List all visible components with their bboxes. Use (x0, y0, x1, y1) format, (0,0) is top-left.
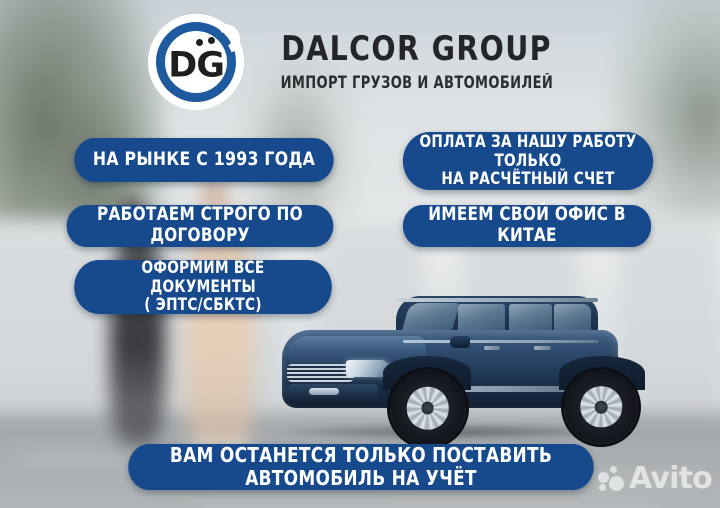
brand-text-block: DALCOR GROUP ИМПОРТ ГРУЗОВ И АВТОМОБИЛЕЙ (262, 32, 572, 92)
car-door-handle-rear (534, 346, 551, 350)
badge-line: РАБОТАЕМ СТРОГО ПО ДОГОВОРУ (79, 205, 320, 246)
badge-china-office: ИМЕЕМ СВОЙ ОФИС В КИТАЕ (403, 205, 651, 247)
dalcor-logo-icon: DG (148, 14, 244, 110)
pedestrian-1 (110, 220, 165, 447)
car-wheel-rear-cap (595, 401, 608, 414)
car-fog-light (309, 388, 339, 395)
car-beltline-trim (403, 340, 598, 343)
car-roof-rail (396, 298, 598, 302)
badge-years-on-market: НА РЫНКЕ С 1993 ГОДА (74, 138, 333, 182)
car-wheel-front (390, 370, 466, 446)
badge-documents: ОФОРМИМ ВСЕ ДОКУМЕНТЫ ( ЭПТС/СБКТС) (74, 260, 332, 314)
badge-line: ( ЭПТС/СБКТС) (87, 296, 319, 314)
logo-initials: DG (168, 48, 224, 83)
avito-watermark: Avito (598, 464, 712, 494)
badge-line: ВАМ ОСТАНЕТСЯ ТОЛЬКО ПОСТАВИТЬ АВТОМОБИЛ… (141, 444, 581, 490)
badge-registration: ВАМ ОСТАНЕТСЯ ТОЛЬКО ПОСТАВИТЬ АВТОМОБИЛ… (128, 444, 594, 490)
badge-contract-work: РАБОТАЕМ СТРОГО ПО ДОГОВОРУ (67, 205, 334, 247)
promo-banner: DG DALCOR GROUP ИМПОРТ ГРУЗОВ И АВТОМОБИ… (0, 0, 720, 508)
badge-payment-method: ОПЛАТА ЗА НАШУ РАБОТУ ТОЛЬКО НА РАСЧЁТНЫ… (403, 132, 653, 190)
car-wheel-front-cap (421, 402, 434, 415)
brand-header: DG DALCOR GROUP ИМПОРТ ГРУЗОВ И АВТОМОБИ… (0, 14, 720, 110)
badge-line: ИМЕЕМ СВОЙ ОФИС В КИТАЕ (416, 205, 639, 246)
badge-line: НА РЫНКЕ С 1993 ГОДА (93, 149, 315, 170)
badge-line: НА РАСЧЁТНЫЙ СЧЕТ (416, 170, 640, 188)
car-wheel-rear (564, 370, 638, 444)
car-photo (282, 296, 618, 436)
car-grille (287, 364, 354, 382)
badge-line: ОФОРМИМ ВСЕ ДОКУМЕНТЫ (87, 259, 319, 296)
car-side-mirror (450, 336, 470, 348)
avito-dots-icon (598, 466, 624, 492)
brand-title: DALCOR GROUP (282, 32, 553, 68)
avito-wordmark: Avito (629, 464, 712, 494)
badge-line: ОПЛАТА ЗА НАШУ РАБОТУ ТОЛЬКО (416, 133, 640, 170)
brand-subtitle: ИМПОРТ ГРУЗОВ И АВТОМОБИЛЕЙ (281, 73, 554, 92)
car-door-handle-front (484, 346, 501, 350)
